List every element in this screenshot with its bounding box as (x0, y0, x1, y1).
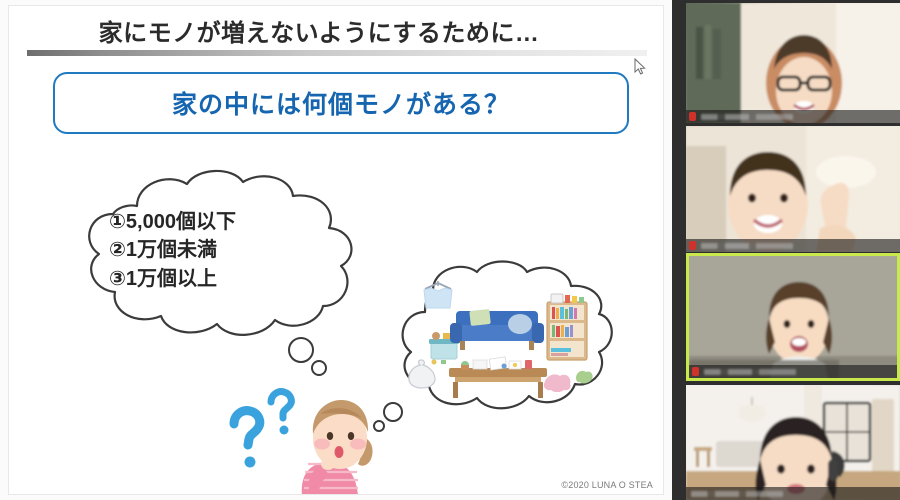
option-2: ②1万個未満 (109, 236, 359, 264)
screen-share-view: 家にモノが増えないようにするために… 家の中には何個モノがある？ ①5,000個… (0, 0, 900, 500)
bookshelf-illustration (545, 292, 591, 364)
answer-thought-cloud: ①5,000個以下 ②1万個未満 ③1万個以上 (67, 166, 377, 346)
question-box: 家の中には何個モノがある？ (53, 72, 629, 134)
participant-name-bar (689, 365, 897, 378)
participant-tile-4[interactable] (686, 385, 900, 500)
slide-title: 家にモノが増えないようにするために… (9, 13, 629, 48)
participant-name-label (704, 369, 796, 375)
participant-video-image (689, 256, 900, 381)
scattered-clothes-illustration (541, 366, 573, 392)
participant-tile-2[interactable] (686, 126, 900, 252)
copyright-text: ©2020 LUNA O STEA (561, 480, 653, 490)
room-thought-cloud (377, 256, 615, 416)
participant-tile-1[interactable] (686, 3, 900, 123)
presentation-slide: 家にモノが増えないようにするために… 家の中には何個モノがある？ ①5,000個… (8, 5, 664, 495)
participant-video-image (686, 3, 900, 123)
participant-name-label (701, 243, 793, 249)
laundry-bag-illustration (405, 356, 439, 390)
participant-name-label (701, 114, 793, 120)
microphone-muted-icon (689, 241, 696, 250)
answer-options-list: ①5,000個以下 ②1万個未満 ③1万個以上 (109, 208, 359, 293)
scattered-item-illustration (573, 366, 595, 386)
participant-video-image (686, 126, 900, 252)
question-text: 家の中には何個モノがある？ (172, 85, 510, 121)
panel-divider (672, 0, 686, 500)
option-1: ①5,000個以下 (109, 208, 359, 236)
participant-video-panel (686, 0, 900, 500)
sofa-illustration (450, 303, 548, 355)
participant-tile-3[interactable] (686, 253, 900, 381)
shared-slide-area[interactable]: 家にモノが増えないようにするために… 家の中には何個モノがある？ ①5,000個… (0, 0, 672, 500)
title-underline-rule (27, 50, 647, 56)
participant-name-bar (686, 487, 900, 500)
option-3: ③1万個以上 (109, 265, 359, 293)
participant-name-label (691, 491, 783, 497)
microphone-muted-icon (692, 367, 699, 376)
question-mark-icon (234, 392, 291, 468)
mouse-cursor-icon (634, 58, 646, 76)
thinking-girl-illustration (224, 378, 394, 495)
participant-video-image (686, 385, 900, 500)
participant-name-bar (686, 239, 900, 252)
participant-name-bar (686, 110, 900, 123)
microphone-muted-icon (689, 112, 696, 121)
coffee-table-illustration (445, 356, 555, 402)
